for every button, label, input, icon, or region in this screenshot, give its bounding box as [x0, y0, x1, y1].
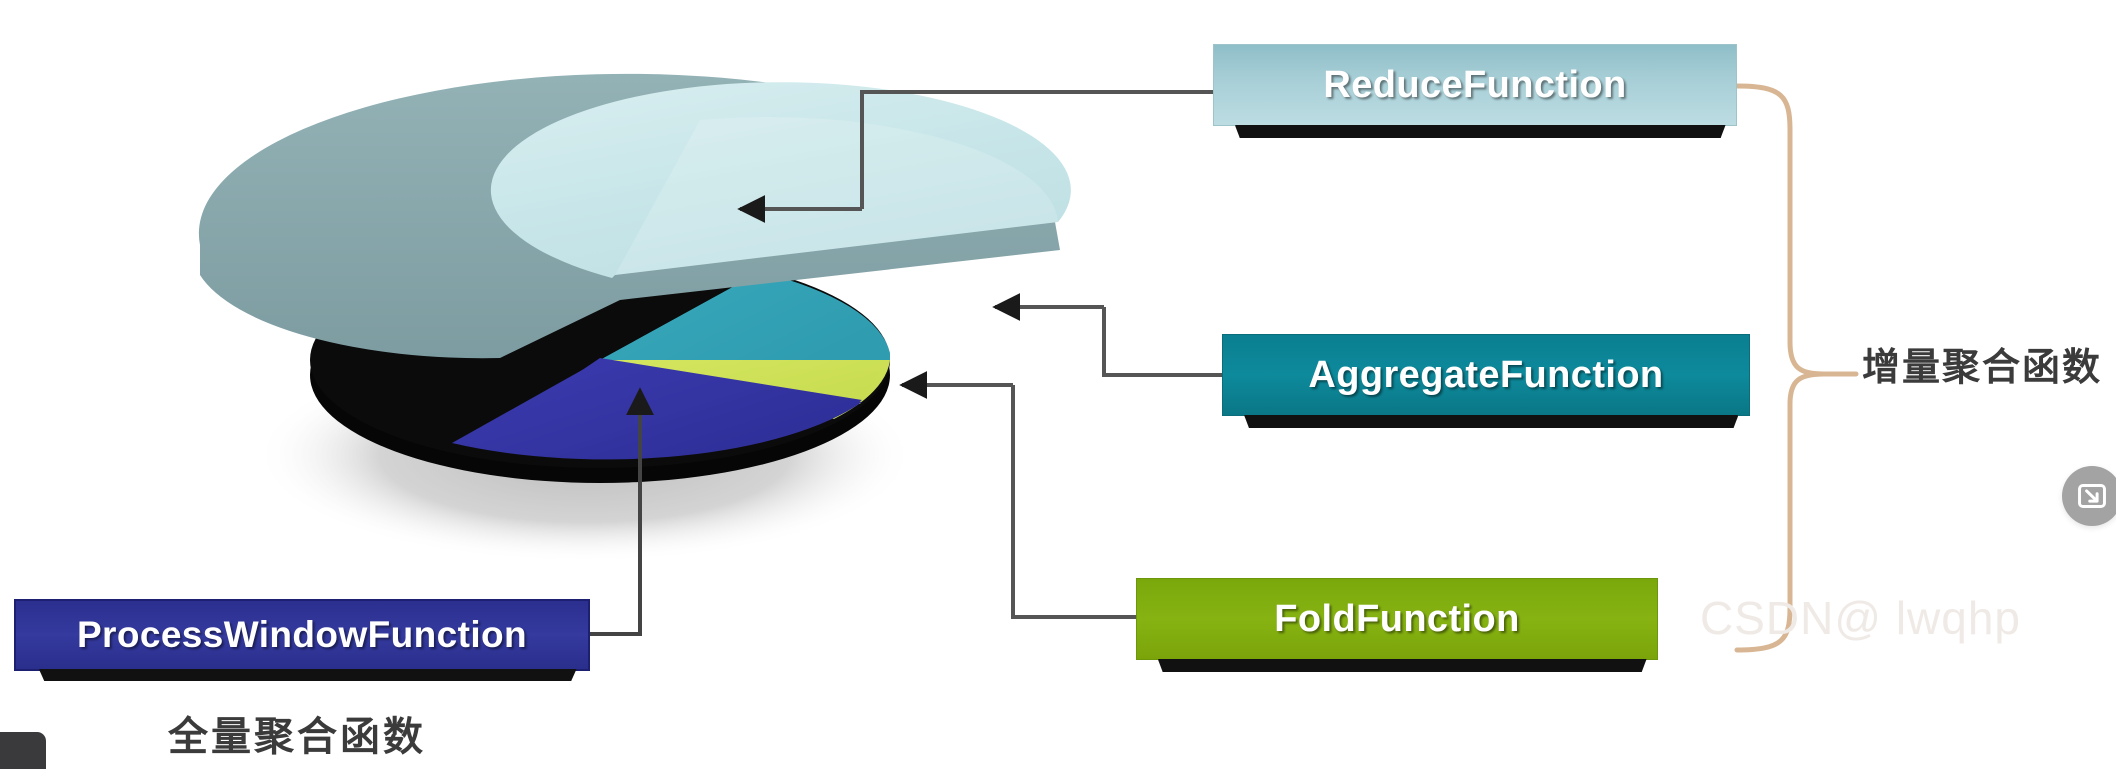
- watermark: CSDN@ lwqhp: [1700, 591, 2021, 645]
- grouping-brace: [1737, 86, 1856, 650]
- function-box-process-window-label: ProcessWindowFunction: [77, 614, 527, 656]
- box-drop-shadow: [1244, 415, 1738, 428]
- label-incremental-aggregation: 增量聚合函数: [1862, 336, 2102, 391]
- box-drop-shadow: [1235, 125, 1726, 138]
- function-box-fold[interactable]: FoldFunction: [1136, 578, 1658, 660]
- function-box-reduce[interactable]: ReduceFunction: [1213, 44, 1737, 126]
- function-box-aggregate-label: AggregateFunction: [1308, 354, 1663, 397]
- box-drop-shadow: [39, 669, 577, 681]
- function-box-process-window[interactable]: ProcessWindowFunction: [14, 599, 590, 671]
- diagram-canvas: ReduceFunction AggregateFunction FoldFun…: [0, 0, 2116, 769]
- connector-fold: [902, 385, 1136, 617]
- collapse-button[interactable]: [2062, 466, 2116, 526]
- label-full-aggregation: 全量聚合函数: [168, 704, 426, 762]
- connector-aggregate: [995, 307, 1222, 375]
- function-box-fold-label: FoldFunction: [1274, 598, 1519, 641]
- minimize-to-corner-icon: [2075, 479, 2109, 513]
- function-box-aggregate[interactable]: AggregateFunction: [1222, 334, 1750, 416]
- corner-chrome-nub: [0, 732, 46, 769]
- function-box-reduce-label: ReduceFunction: [1323, 64, 1626, 107]
- box-drop-shadow: [1158, 659, 1647, 672]
